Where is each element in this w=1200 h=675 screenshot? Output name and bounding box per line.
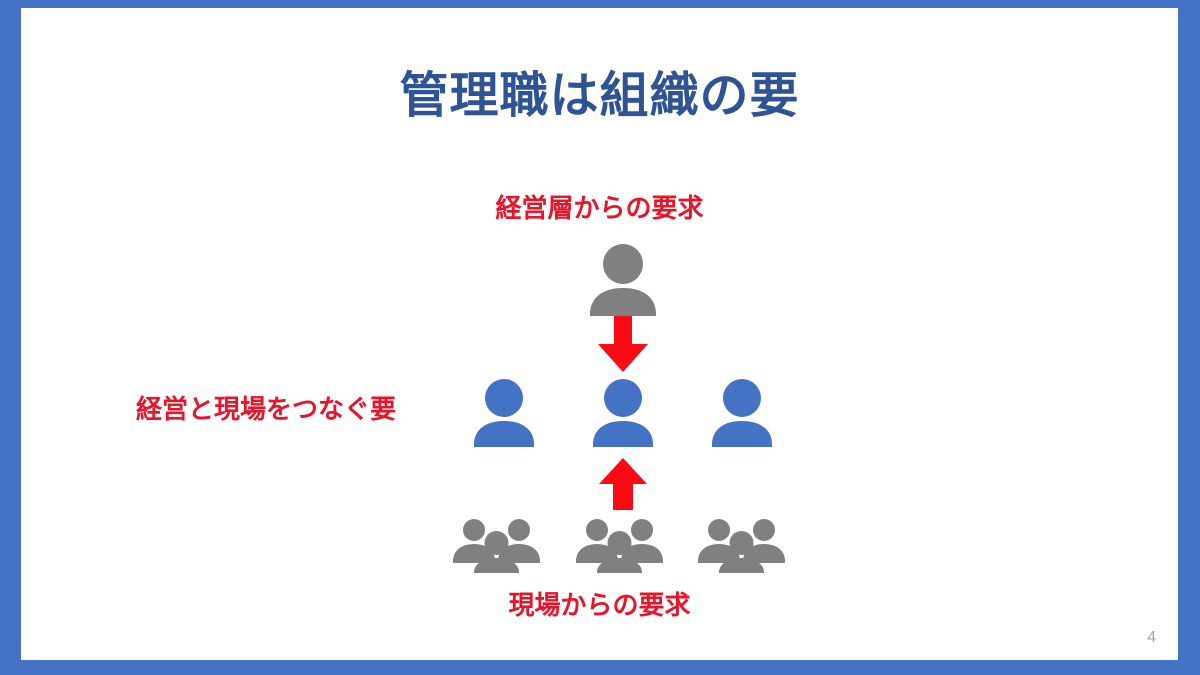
person-icon-manager-right xyxy=(702,379,782,447)
arrow-up-icon xyxy=(597,458,649,510)
person-icon-executive xyxy=(578,244,668,316)
slide-canvas: 管理職は組織の要 経営層からの要求 経営と現場をつなぐ要 現場からの要求 xyxy=(21,8,1178,660)
arrow-down-icon xyxy=(594,316,652,374)
people-group-icon-left xyxy=(449,518,544,573)
page-title: 管理職は組織の要 xyxy=(21,70,1178,124)
label-executive-demand: 経営層からの要求 xyxy=(21,194,1178,223)
people-group-icon-center xyxy=(572,518,667,573)
label-bridge-role: 経営と現場をつなぐ要 xyxy=(96,395,436,424)
people-group-icon-right xyxy=(694,518,789,573)
page-number: 4 xyxy=(1147,630,1156,646)
label-frontline-demand: 現場からの要求 xyxy=(21,591,1178,620)
slide: 管理職は組織の要 経営層からの要求 経営と現場をつなぐ要 現場からの要求 xyxy=(0,0,1200,675)
person-icon-manager-left xyxy=(464,379,544,447)
person-icon-manager-center xyxy=(583,379,663,447)
